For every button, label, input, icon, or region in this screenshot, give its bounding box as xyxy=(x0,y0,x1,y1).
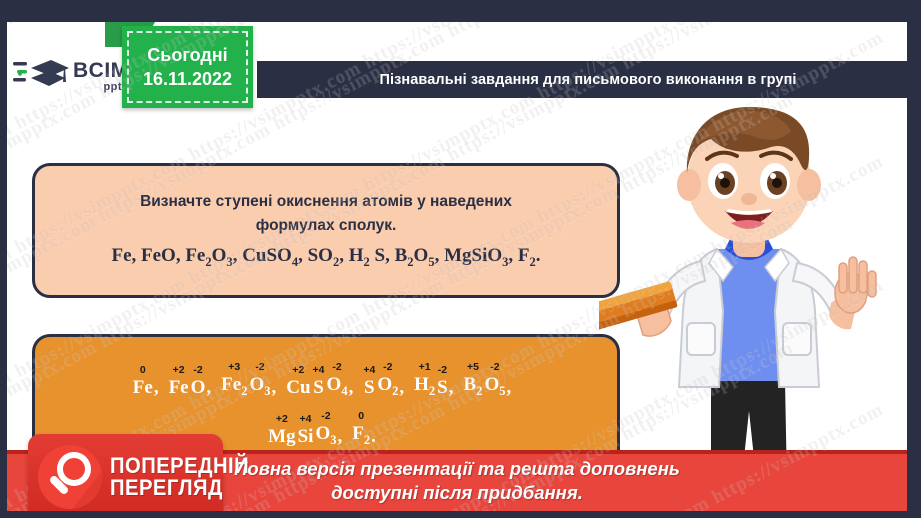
chem-term: +4S xyxy=(313,365,325,397)
slide-canvas: BCIM pptx Сьогодні 16.11.2022 Пізнавальн… xyxy=(7,22,907,511)
chem-punctuation: . xyxy=(371,427,376,446)
oxidation-number: +4 xyxy=(363,365,375,377)
chem-punctuation: , xyxy=(399,378,404,397)
chem-symbol: S xyxy=(364,378,375,397)
oxidation-number: +2 xyxy=(173,365,185,377)
oxidation-number: +3 xyxy=(228,362,240,374)
chem-punctuation: , xyxy=(506,378,511,397)
brand-logo: BCIM pptx xyxy=(7,47,129,105)
date-badge: Сьогодні 16.11.2022 xyxy=(122,26,253,108)
slide-root: BCIM pptx Сьогодні 16.11.2022 Пізнавальн… xyxy=(0,0,921,518)
chem-punctuation: , xyxy=(349,378,354,397)
chem-term: +2Cu xyxy=(286,365,310,397)
chem-term: 0Fe xyxy=(133,365,153,397)
chem-punctuation: , xyxy=(154,378,159,397)
chem-term: -2O3 xyxy=(249,362,270,397)
chem-symbol: Fe xyxy=(169,378,189,397)
banner-line-1: Повна версія презентації та решта доповн… xyxy=(234,457,680,480)
chem-term: -2O3 xyxy=(315,411,336,446)
chem-symbol: S xyxy=(437,378,448,397)
chem-punctuation: , xyxy=(272,378,277,397)
chem-term: +2Fe xyxy=(169,365,189,397)
oxidation-number: -2 xyxy=(193,365,202,377)
chem-symbol: S xyxy=(313,378,324,397)
oxidation-number: 0 xyxy=(140,365,146,377)
chem-punctuation: , xyxy=(206,378,211,397)
chem-symbol: O5 xyxy=(484,375,505,397)
oxidation-number: -2 xyxy=(383,362,392,374)
chem-punctuation: , xyxy=(337,427,342,446)
oxidation-number: -2 xyxy=(490,362,499,374)
date-badge-label: Сьогодні xyxy=(147,45,227,66)
date-badge-value: 16.11.2022 xyxy=(143,69,232,90)
oxidation-number: -2 xyxy=(255,362,264,374)
chem-symbol: Cu xyxy=(286,378,310,397)
answer-row-2: +2Mg+4Si-2O3,0F2. xyxy=(267,411,385,446)
chem-term: +2Mg xyxy=(268,414,295,446)
chem-term: +4S xyxy=(363,365,375,397)
chem-symbol: Fe2 xyxy=(221,375,247,397)
chem-term: +5B2 xyxy=(463,362,482,397)
preview-badge-line-2: ПЕРЕГЛЯД xyxy=(110,477,249,499)
chem-punctuation: , xyxy=(449,378,454,397)
oxidation-number: +5 xyxy=(467,362,479,374)
chem-term: -2O5 xyxy=(484,362,505,397)
chem-symbol: B2 xyxy=(463,375,482,397)
graduation-cap-icon xyxy=(13,56,69,96)
chem-symbol: O xyxy=(191,378,206,397)
chem-term: -2O xyxy=(191,365,206,397)
chem-term: 0F2 xyxy=(352,411,370,446)
chem-term: +3Fe2 xyxy=(221,362,247,397)
oxidation-number: +2 xyxy=(292,365,304,377)
chem-symbol: Si xyxy=(298,427,314,446)
oxidation-number: +4 xyxy=(300,414,312,426)
task-formulas: Fe, FeO, Fe2O3, CuSO4, SO2, H2 S, B2O5, … xyxy=(111,243,540,271)
chem-term: -2S xyxy=(437,365,448,397)
cartoon-boy-scientist-illustration xyxy=(599,81,899,511)
preview-badge-line-1: ПОПЕРЕДНІЙ xyxy=(110,455,249,477)
chem-symbol: Mg xyxy=(268,427,295,446)
magnifier-icon xyxy=(38,445,102,509)
oxidation-number: 0 xyxy=(358,411,364,423)
chem-symbol: H2 xyxy=(414,375,435,397)
oxidation-number: +2 xyxy=(276,414,288,426)
chem-symbol: O3 xyxy=(249,375,270,397)
oxidation-number: +4 xyxy=(313,365,325,377)
oxidation-number: -2 xyxy=(438,365,447,377)
chem-symbol: Fe xyxy=(133,378,153,397)
answer-row-1: 0Fe,+2Fe-2O,+3Fe2-2O3,+2Cu+4S-2O4,+4S-2O… xyxy=(132,362,520,397)
preview-badge[interactable]: ПОПЕРЕДНІЙ ПЕРЕГЛЯД xyxy=(28,434,223,511)
chem-symbol: O4 xyxy=(327,375,348,397)
chem-symbol: O2 xyxy=(377,375,398,397)
chem-term: +4Si xyxy=(298,414,314,446)
oxidation-number: +1 xyxy=(419,362,431,374)
task-line-2: формулах сполук. xyxy=(256,214,397,237)
chem-symbol: O3 xyxy=(315,424,336,446)
chem-term: -2O4 xyxy=(327,362,348,397)
logo-main-text: BCIM xyxy=(73,60,129,81)
banner-line-2: доступні після придбання. xyxy=(331,481,583,504)
oxidation-number: -2 xyxy=(332,362,341,374)
task-box: Визначте ступені окиснення атомів у наве… xyxy=(32,163,620,298)
oxidation-number: -2 xyxy=(321,411,330,423)
chem-symbol: F2 xyxy=(352,424,370,446)
task-line-1: Визначте ступені окиснення атомів у наве… xyxy=(140,190,512,213)
chem-term: +1H2 xyxy=(414,362,435,397)
chem-term: -2O2 xyxy=(377,362,398,397)
